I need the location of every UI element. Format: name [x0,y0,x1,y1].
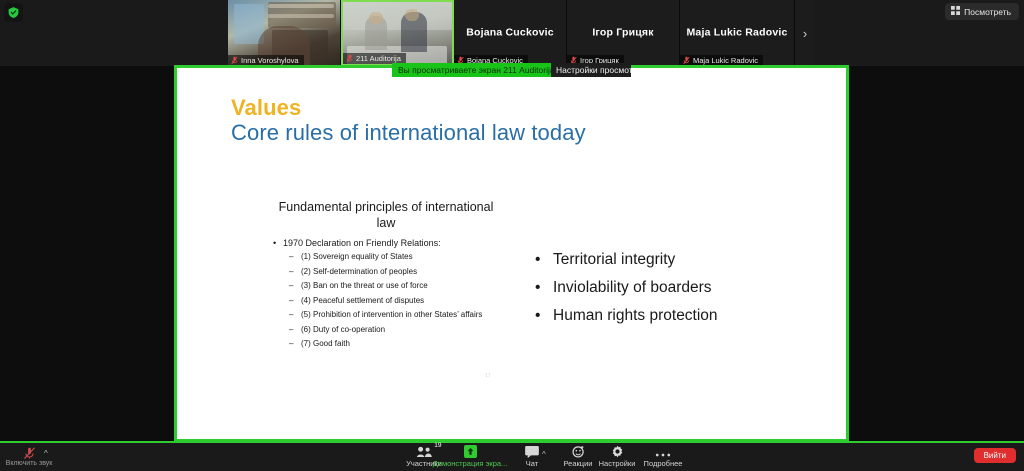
slide-page-number: 17 [485,373,491,379]
tile-name-label: Inna Voroshylova [241,56,299,65]
mic-muted-icon [231,56,238,65]
participant-filmstrip: Inna Voroshylova 211 Auditorija [228,0,815,66]
slide-left-bullet: 1970 Declaration on Friendly Relations: [271,236,501,250]
leave-meeting-button[interactable]: Вийти [974,448,1016,463]
gear-icon [611,445,624,458]
view-options-button[interactable]: Настройки просмотра [551,63,631,77]
tile-display-name: Bojana Cuckovic [454,26,566,38]
more-button[interactable]: Подробнее [637,443,689,470]
settings-label: Настройки [599,459,636,468]
slide-left-heading: Fundamental principles of international … [271,199,501,231]
zoom-meeting-window: Посмотреть Inna Voroshylova [0,0,1024,471]
meeting-toolbar: Включить звук ^ ^ Остановить показ в... [0,440,1024,471]
share-screen-label: Демонстрация экра... [433,459,508,468]
view-button-label: Посмотреть [964,7,1011,17]
slide-left-item: (5) Prohibition of intervention in other… [271,308,501,323]
tile-display-name: Maja Lukic Radovic [680,26,794,38]
slide-left-item: (2) Self-determination of peoples [271,265,501,280]
slide-left-item: (6) Duty of co-operation [271,323,501,338]
slide-right-column: Territorial integrity Inviolability of b… [535,246,825,330]
chat-label: Чат [526,459,538,468]
audio-options-chevron-icon[interactable]: ^ [44,449,48,458]
filmstrip-next-arrow-icon[interactable]: › [795,0,815,66]
reactions-label: Реакции [564,459,593,468]
tile-name-label: 211 Auditorija [356,54,401,63]
chat-options-chevron-icon[interactable]: ^ [542,450,546,459]
share-screen-icon [464,445,477,458]
slide-left-column: Fundamental principles of international … [271,199,501,352]
security-shield-icon[interactable] [4,3,23,22]
slide-right-item: Human rights protection [535,302,825,330]
slide-right-item: Inviolability of boarders [535,274,825,302]
presentation-slide: Values Core rules of international law t… [177,68,846,439]
more-dots-icon [655,445,671,458]
share-screen-button[interactable]: Демонстрация экра... [434,443,506,470]
screen-share-banner: Вы просматриваете экран 211 Auditorija [392,63,561,77]
tile-name-label: Maja Lukic Radovic [693,56,758,65]
slide-right-item: Territorial integrity [535,246,825,274]
mute-audio-label: Включить звук [6,460,53,467]
tile-display-name: Ігор Грицяк [567,26,679,38]
slide-left-item: (7) Good faith [271,337,501,352]
screen-share-banner-label: Вы просматриваете экран 211 Auditorija [398,65,555,75]
grid-view-icon [951,6,960,17]
participant-tile-ihor-hrytsiak[interactable]: Ігор Грицяк Ігор Грицяк [567,0,680,66]
participant-tile-211-auditorija[interactable]: 211 Auditorija [341,0,454,66]
slide-left-item: (4) Peaceful settlement of disputes [271,294,501,309]
participant-tile-maja-lukic-radovic[interactable]: Maja Lukic Radovic Maja Lukic Radovic [680,0,795,66]
more-label: Подробнее [644,459,683,468]
chat-icon [525,445,539,458]
reactions-icon [572,445,585,458]
microphone-muted-icon [23,447,36,460]
top-bar: Посмотреть Inna Voroshylova [0,0,1024,66]
mic-muted-icon [683,56,690,65]
slide-subtitle: Core rules of international law today [231,120,586,146]
view-options-label: Настройки просмотра [556,65,631,75]
shared-screen-frame: Values Core rules of international law t… [174,65,849,442]
mic-muted-icon [346,54,353,63]
view-layout-button[interactable]: Посмотреть [945,3,1019,20]
slide-left-item: (3) Ban on the threat or use of force [271,279,501,294]
settings-button[interactable]: Настройки [593,443,641,470]
slide-title-values: Values [231,95,301,121]
participant-tile-inna-voroshylova[interactable]: Inna Voroshylova [228,0,341,66]
participants-icon: 19 [416,445,433,458]
slide-left-item: (1) Sovereign equality of States [271,250,501,265]
participant-tile-bojana-cuckovic[interactable]: Bojana Cuckovic Bojana Cuckovic [454,0,567,66]
